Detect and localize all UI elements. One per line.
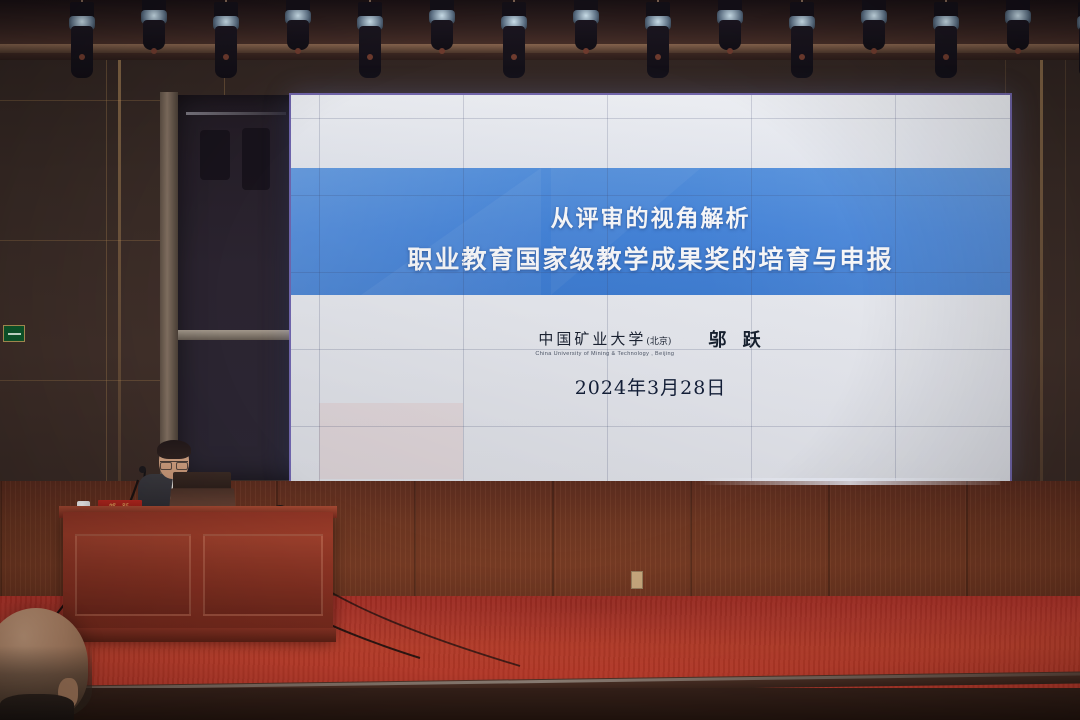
light-indicator-dot xyxy=(1015,48,1021,54)
light-indicator-dot xyxy=(943,54,949,60)
light-body xyxy=(431,20,453,50)
university-name-en: China University of Mining & Technology … xyxy=(535,351,674,357)
slide-credit-row: 中国矿业大学(北京) China University of Mining & … xyxy=(291,328,1010,357)
light-body xyxy=(863,20,885,50)
microphone-head-icon xyxy=(139,466,146,473)
desk-base-molding xyxy=(60,628,336,642)
light-body xyxy=(359,26,381,78)
alcove-ledge xyxy=(178,330,290,340)
light-body xyxy=(1007,20,1029,50)
light-body xyxy=(71,26,93,78)
exit-sign-bar xyxy=(8,333,21,335)
light-body xyxy=(503,26,525,78)
light-indicator-dot xyxy=(223,54,229,60)
light-indicator-dot xyxy=(655,54,661,60)
desk-front-panel xyxy=(203,534,323,616)
light-indicator-dot xyxy=(439,48,445,54)
led-video-wall[interactable]: 从评审的视角解析 职业教育国家级教学成果奖的培育与申报 中国矿业大学(北京) C… xyxy=(291,95,1010,481)
wall-trim-line xyxy=(1040,0,1043,500)
light-body xyxy=(287,20,309,50)
light-body xyxy=(143,20,165,50)
light-body xyxy=(215,26,237,78)
light-body xyxy=(719,20,741,50)
audience-head-second-row xyxy=(0,694,74,720)
slide-date: 2024年3月28日 xyxy=(291,373,1010,400)
wall-switch-plate xyxy=(631,571,643,589)
university-name-cn: 中国矿业大学(北京) xyxy=(535,328,674,349)
exit-sign xyxy=(3,325,25,342)
speaker-box-icon xyxy=(200,130,230,180)
slide-title-line-1: 从评审的视角解析 xyxy=(291,199,1010,233)
light-body xyxy=(935,26,957,78)
wall-trim-line xyxy=(118,0,121,500)
light-indicator-dot xyxy=(583,48,589,54)
light-indicator-dot xyxy=(295,48,301,54)
auditorium-photo: 从评审的视角解析 职业教育国家级教学成果奖的培育与申报 中国矿业大学(北京) C… xyxy=(0,0,1080,720)
light-indicator-dot xyxy=(799,54,805,60)
desk-front-panel xyxy=(75,534,191,616)
presenter-desk xyxy=(63,512,333,637)
university-name-cn-paren: (北京) xyxy=(646,337,671,347)
slide-top-margin xyxy=(291,95,1010,168)
light-indicator-dot xyxy=(511,54,517,60)
alcove-rail xyxy=(186,112,286,115)
university-logo-block: 中国矿业大学(北京) China University of Mining & … xyxy=(535,328,674,357)
light-indicator-dot xyxy=(79,54,85,60)
light-body xyxy=(791,26,813,78)
light-indicator-dot xyxy=(151,48,157,54)
slide-title-line-2: 职业教育国家级教学成果奖的培育与申报 xyxy=(291,240,1010,276)
speaker-box-icon xyxy=(242,128,270,190)
light-indicator-dot xyxy=(727,48,733,54)
glasses-icon xyxy=(160,461,188,468)
wall-alcove-recess xyxy=(175,95,291,480)
university-name-cn-main: 中国矿业大学 xyxy=(538,330,646,348)
light-body xyxy=(575,20,597,50)
light-indicator-dot xyxy=(367,54,373,60)
light-indicator-dot xyxy=(871,48,877,54)
slide-presenter-name: 邬 跃 xyxy=(708,326,765,352)
led-panel-tint-artifact xyxy=(319,403,463,479)
presenter-hair xyxy=(157,440,191,459)
light-body xyxy=(647,26,669,78)
screen-reflection-strip xyxy=(700,478,1000,485)
alcove-pillar xyxy=(160,92,178,484)
